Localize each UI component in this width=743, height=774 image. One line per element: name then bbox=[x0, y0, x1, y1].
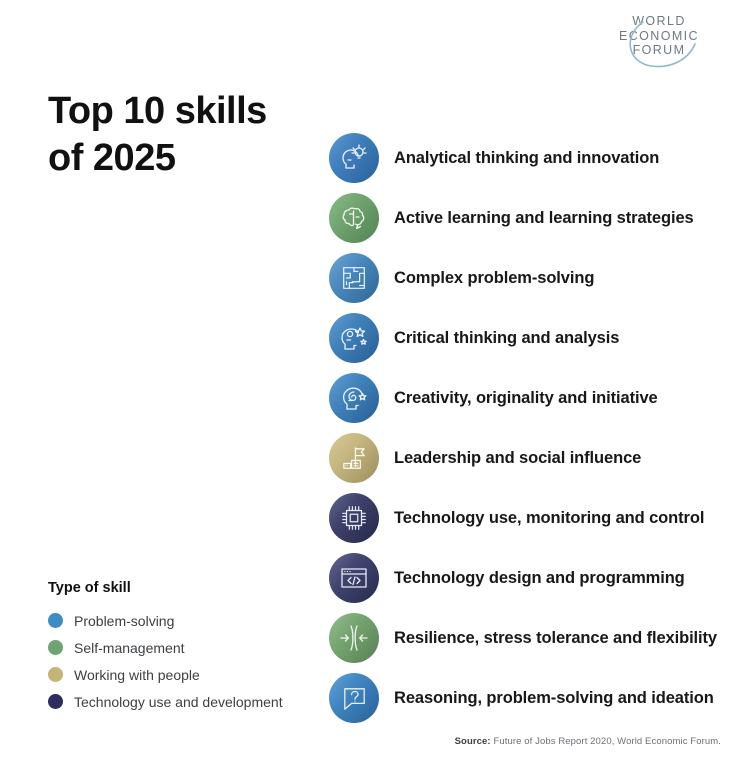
legend-swatch-icon bbox=[48, 694, 63, 709]
legend-label: Working with people bbox=[74, 667, 200, 683]
legend-swatch-icon bbox=[48, 667, 63, 682]
compression-arrows-icon bbox=[329, 613, 379, 663]
legend-label: Self-management bbox=[74, 640, 185, 656]
skill-label: Complex problem-solving bbox=[394, 269, 594, 288]
logo-line-economic: ECONOMIC bbox=[603, 29, 715, 44]
logo-line-world: WORLD bbox=[603, 14, 715, 29]
legend-label: Problem-solving bbox=[74, 613, 174, 629]
logo-line-forum: FORUM bbox=[603, 43, 715, 58]
skills-list: Analytical thinking and innovation Activ… bbox=[329, 128, 729, 728]
code-window-icon bbox=[329, 553, 379, 603]
skill-row: Analytical thinking and innovation bbox=[329, 128, 729, 188]
skill-row: Critical thinking and analysis bbox=[329, 308, 729, 368]
legend-item-working-with-people: Working with people bbox=[48, 661, 318, 688]
microchip-icon bbox=[329, 493, 379, 543]
head-spiral-icon bbox=[329, 373, 379, 423]
skill-label: Reasoning, problem-solving and ideation bbox=[394, 689, 714, 708]
skill-row: Active learning and learning strategies bbox=[329, 188, 729, 248]
head-lightbulb-icon bbox=[329, 133, 379, 183]
skill-row: Complex problem-solving bbox=[329, 248, 729, 308]
legend-item-problem-solving: Problem-solving bbox=[48, 607, 318, 634]
skill-row: Technology design and programming bbox=[329, 548, 729, 608]
skill-label: Leadership and social influence bbox=[394, 449, 641, 468]
skill-label: Technology design and programming bbox=[394, 569, 685, 588]
legend-swatch-icon bbox=[48, 640, 63, 655]
skill-label: Active learning and learning strategies bbox=[394, 209, 694, 228]
skill-label: Creativity, originality and initiative bbox=[394, 389, 658, 408]
brain-thought-bubbles-icon bbox=[329, 193, 379, 243]
source-text: Future of Jobs Report 2020, World Econom… bbox=[493, 736, 721, 747]
skill-label: Technology use, monitoring and control bbox=[394, 509, 704, 528]
maze-puzzle-icon bbox=[329, 253, 379, 303]
page-title: Top 10 skills of 2025 bbox=[48, 88, 267, 182]
legend-item-self-management: Self-management bbox=[48, 634, 318, 661]
legend-label: Technology use and development bbox=[74, 694, 283, 710]
skill-label: Analytical thinking and innovation bbox=[394, 149, 659, 168]
head-gears-star-icon bbox=[329, 313, 379, 363]
flag-podium-icon bbox=[329, 433, 379, 483]
legend: Type of skill Problem-solving Self-manag… bbox=[48, 580, 318, 715]
skill-label: Critical thinking and analysis bbox=[394, 329, 619, 348]
legend-swatch-icon bbox=[48, 613, 63, 628]
skill-row: Resilience, stress tolerance and flexibi… bbox=[329, 608, 729, 668]
skill-row: Creativity, originality and initiative bbox=[329, 368, 729, 428]
skill-row: Leadership and social influence bbox=[329, 428, 729, 488]
skill-row: Technology use, monitoring and control bbox=[329, 488, 729, 548]
legend-item-technology-use-and-development: Technology use and development bbox=[48, 688, 318, 715]
source-label: Source: bbox=[455, 736, 491, 747]
speech-bubble-question-icon bbox=[329, 673, 379, 723]
skill-label: Resilience, stress tolerance and flexibi… bbox=[394, 629, 717, 648]
legend-title: Type of skill bbox=[48, 580, 318, 596]
skill-row: Reasoning, problem-solving and ideation bbox=[329, 668, 729, 728]
wef-logo: WORLD ECONOMIC FORUM bbox=[603, 14, 715, 72]
source-note: Source: Future of Jobs Report 2020, Worl… bbox=[455, 736, 721, 747]
